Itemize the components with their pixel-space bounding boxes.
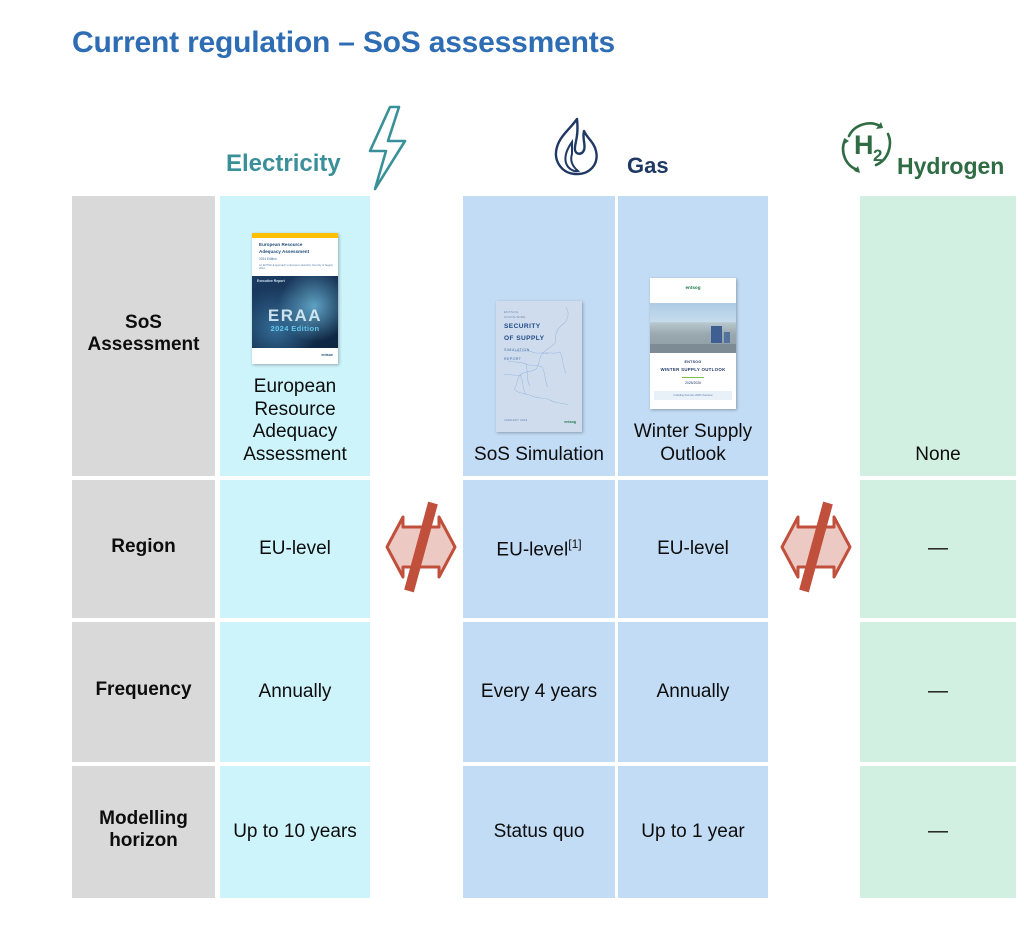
cell-text-gas-sos-region-wrap: EU-level[1]: [496, 537, 581, 562]
sos-cover-title-2: OF SUPPLY: [504, 335, 582, 344]
cell-hydrogen-modelling-horizon: —: [860, 766, 1016, 898]
cell-gas-sos-modelling-horizon: Status quo: [463, 766, 615, 898]
row-label-frequency: Frequency: [72, 622, 215, 762]
cell-text-gas-winter-modelling-horizon: Up to 1 year: [641, 821, 745, 843]
wso-cover-text: ENTSOG WINTER SUPPLY OUTLOOK 2025/2026 I…: [650, 353, 736, 400]
sos-cover-subtitle-2: REPORT: [504, 357, 582, 363]
page-title: Current regulation – SoS assessments: [72, 26, 615, 60]
cell-gas-sos-simulation: ENTSOG UNION-WIDE SECURITY OF SUPPLY SIM…: [463, 196, 615, 476]
eraa-cover-footer: entsoe: [252, 348, 338, 364]
wso-cover-line-2: WINTER SUPPLY OUTLOOK: [654, 367, 732, 372]
eraa-cover-header: European Resource Adequacy Assessment 20…: [252, 238, 338, 276]
cell-text-electricity-sos-assessment: European Resource Adequacy Assessment: [226, 376, 364, 466]
svg-text:H: H: [854, 130, 874, 160]
cell-text-electricity-region: EU-level: [259, 538, 331, 560]
not-equal-arrow-electricity-gas: [383, 497, 459, 602]
cell-text-electricity-frequency: Annually: [259, 681, 332, 703]
cell-electricity-region: EU-level: [220, 480, 370, 618]
cell-text-gas-sos-frequency: Every 4 years: [481, 681, 597, 703]
wso-photo-tank-small: [724, 332, 730, 343]
row-label-sos-assessment: SoS Assessment: [72, 196, 215, 476]
row-label-modelling-horizon: Modelling horizon: [72, 766, 215, 898]
cell-electricity-frequency: Annually: [220, 622, 370, 762]
not-equal-arrow-gas-hydrogen: [778, 497, 854, 602]
sos-assessment-table: SoS Assessment European Resource Adequac…: [72, 196, 1016, 898]
h2-cycle-icon: H 2: [836, 118, 902, 185]
column-header-electricity: Electricity: [226, 150, 341, 178]
cell-text-gas-sos-modelling-horizon: Status quo: [494, 821, 585, 843]
cell-gas-winter-frequency: Annually: [618, 622, 768, 762]
svg-text:2: 2: [873, 146, 882, 165]
report-cover-winter-supply-outlook: entsog ENTSOG WINTER SUPPLY OUTLOOK 2025…: [650, 278, 736, 409]
cell-text-hydrogen-region: —: [928, 537, 948, 561]
cell-hydrogen-sos-assessment: None: [860, 196, 1016, 476]
cell-text-gas-winter-supply-outlook: Winter Supply Outlook: [624, 421, 762, 466]
wso-cover-photo: [650, 303, 736, 353]
cell-hydrogen-region: —: [860, 480, 1016, 618]
eraa-cover-title-2: Adequacy Assessment: [259, 249, 333, 256]
eraa-cover-badge: Executive Report: [257, 279, 285, 283]
eraa-cover-title-1: European Resource: [259, 242, 333, 249]
cell-gas-winter-region: EU-level: [618, 480, 768, 618]
cell-gas-sos-region: EU-level[1]: [463, 480, 615, 618]
row-label-region: Region: [72, 480, 215, 618]
cell-hydrogen-frequency: —: [860, 622, 1016, 762]
column-header-gas: Gas: [627, 153, 669, 179]
report-cover-eraa: European Resource Adequacy Assessment 20…: [252, 233, 338, 364]
column-header-hydrogen: Hydrogen: [897, 153, 1004, 180]
eraa-cover-image: Executive Report ERAA 2024 Edition: [252, 276, 338, 348]
cell-gas-winter-modelling-horizon: Up to 1 year: [618, 766, 768, 898]
cell-text-hydrogen-sos-assessment: None: [915, 444, 960, 466]
wso-cover-rule: [682, 377, 704, 379]
slide-canvas: Current regulation – SoS assessments Ele…: [0, 0, 1024, 943]
wso-cover-band: Including Summer 2026 Overview: [654, 391, 732, 400]
entsog-logo-wso: entsog: [685, 285, 700, 290]
sos-cover-title-1: SECURITY: [504, 323, 582, 332]
cell-text-hydrogen-frequency: —: [928, 680, 948, 704]
sos-cover-pretitle-2: UNION-WIDE: [504, 315, 582, 320]
cell-electricity-modelling-horizon: Up to 10 years: [220, 766, 370, 898]
wso-photo-ground: [650, 344, 736, 353]
cell-text-gas-winter-frequency: Annually: [657, 681, 730, 703]
lightning-bolt-icon: [359, 105, 411, 196]
cell-text-gas-sos-region: EU-level: [496, 539, 568, 560]
wso-cover-logobar: entsog: [650, 278, 736, 303]
cell-text-gas-winter-region: EU-level: [657, 538, 729, 560]
cell-text-hydrogen-modelling-horizon: —: [928, 820, 948, 844]
sos-cover-subtitle-1: SIMULATION: [504, 348, 582, 354]
cell-electricity-sos-assessment: European Resource Adequacy Assessment 20…: [220, 196, 370, 476]
report-cover-sos-simulation: ENTSOG UNION-WIDE SECURITY OF SUPPLY SIM…: [496, 301, 582, 432]
entsog-logo-sos: entsog: [564, 420, 576, 424]
eraa-cover-bigedition: 2024 Edition: [252, 325, 338, 334]
cell-text-gas-sos-simulation: SoS Simulation: [474, 444, 604, 466]
eraa-cover-edition: 2024 Edition: [259, 258, 333, 262]
entsoe-logo: entsoe: [321, 353, 333, 357]
wso-photo-tank: [711, 326, 722, 343]
wso-cover-line-1: ENTSOG: [654, 360, 732, 364]
wso-cover-line-3: 2025/2026: [654, 381, 732, 385]
sos-cover-date: JANUARY 2022: [504, 419, 528, 422]
cell-gas-winter-supply-outlook: entsog ENTSOG WINTER SUPPLY OUTLOOK 2025…: [618, 196, 768, 476]
cell-gas-sos-frequency: Every 4 years: [463, 622, 615, 762]
sos-cover-header: ENTSOG UNION-WIDE SECURITY OF SUPPLY SIM…: [496, 301, 582, 363]
footnote-marker-1: [1]: [568, 537, 581, 551]
eraa-cover-subtitle: An ENTSO-E approach to Europe's electric…: [259, 264, 333, 270]
cell-text-electricity-modelling-horizon: Up to 10 years: [233, 821, 357, 843]
flame-icon: [548, 116, 606, 183]
